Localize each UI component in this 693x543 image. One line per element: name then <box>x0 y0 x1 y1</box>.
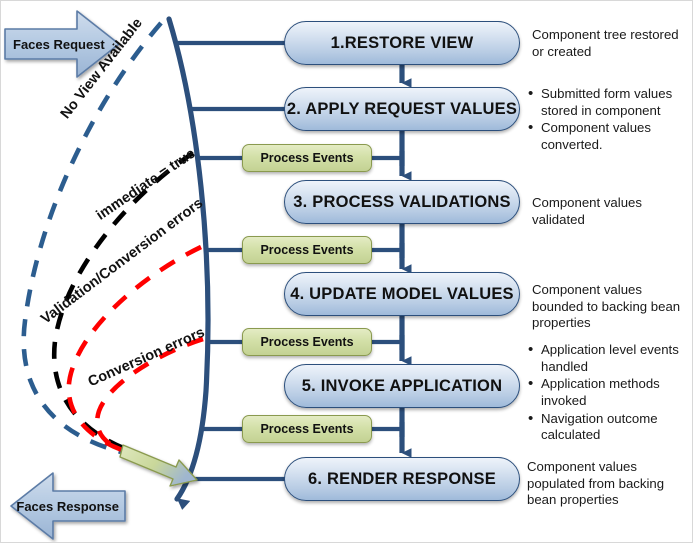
note-invoke-application-bullet-1: Application level events handled <box>527 342 690 375</box>
process-events-box-1[interactable]: Process Events <box>242 144 372 172</box>
note-apply-request-bullet-1: Submitted form values stored in componen… <box>527 86 690 119</box>
faces-response-label: Faces Response <box>47 491 127 521</box>
note-invoke-application: Application level events handled Applica… <box>527 342 690 445</box>
note-restore-view: Component tree restored or created <box>532 27 690 60</box>
faces-request-label: Faces Request <box>5 29 83 59</box>
note-apply-request-bullet-2: Component values converted. <box>527 120 690 153</box>
phase-update-model-values-label: 4. UPDATE MODEL VALUES <box>290 285 514 304</box>
process-events-box-2-label: Process Events <box>260 243 353 257</box>
phase-process-validations-label: 3. PROCESS VALIDATIONS <box>293 193 510 212</box>
note-invoke-application-bullet-3: Navigation outcome calculated <box>527 411 690 444</box>
note-apply-request-values: Submitted form values stored in componen… <box>527 86 690 155</box>
phase-restore-view-label: 1.RESTORE VIEW <box>331 34 474 53</box>
phase-process-validations[interactable]: 3. PROCESS VALIDATIONS <box>284 180 520 224</box>
faces-request-label-wrap: Faces Request <box>5 29 83 59</box>
note-render-response: Component values populated from backing … <box>527 459 693 509</box>
phase-invoke-application-label: 5. INVOKE APPLICATION <box>302 377 502 396</box>
phase-apply-request-values-label: 2. APPLY REQUEST VALUES <box>287 100 517 119</box>
note-process-validations-text: Component values validated <box>532 195 642 227</box>
phase-render-response-label: 6. RENDER RESPONSE <box>308 470 496 489</box>
phase-apply-request-values[interactable]: 2. APPLY REQUEST VALUES <box>284 87 520 131</box>
note-invoke-application-bullet-2: Application methods invoked <box>527 376 690 409</box>
process-events-box-3[interactable]: Process Events <box>242 328 372 356</box>
phase-render-response[interactable]: 6. RENDER RESPONSE <box>284 457 520 501</box>
process-events-box-4-label: Process Events <box>260 422 353 436</box>
note-update-model-values-text: Component values bounded to backing bean… <box>532 282 680 330</box>
phase-invoke-application[interactable]: 5. INVOKE APPLICATION <box>284 364 520 408</box>
note-render-response-text: Component values populated from backing … <box>527 459 664 507</box>
jsf-lifecycle-diagram: Faces Request Faces Response 1.RESTORE V… <box>0 0 693 543</box>
process-events-box-4[interactable]: Process Events <box>242 415 372 443</box>
process-events-box-1-label: Process Events <box>260 151 353 165</box>
process-events-box-3-label: Process Events <box>260 335 353 349</box>
phase-restore-view[interactable]: 1.RESTORE VIEW <box>284 21 520 65</box>
phase-update-model-values[interactable]: 4. UPDATE MODEL VALUES <box>284 272 520 316</box>
note-restore-view-text: Component tree restored or created <box>532 27 679 59</box>
faces-response-label-wrap: Faces Response <box>47 491 127 521</box>
note-process-validations: Component values validated <box>532 195 692 228</box>
render-response-arrow <box>120 445 197 486</box>
note-update-model-values: Component values bounded to backing bean… <box>532 282 692 332</box>
process-events-box-2[interactable]: Process Events <box>242 236 372 264</box>
